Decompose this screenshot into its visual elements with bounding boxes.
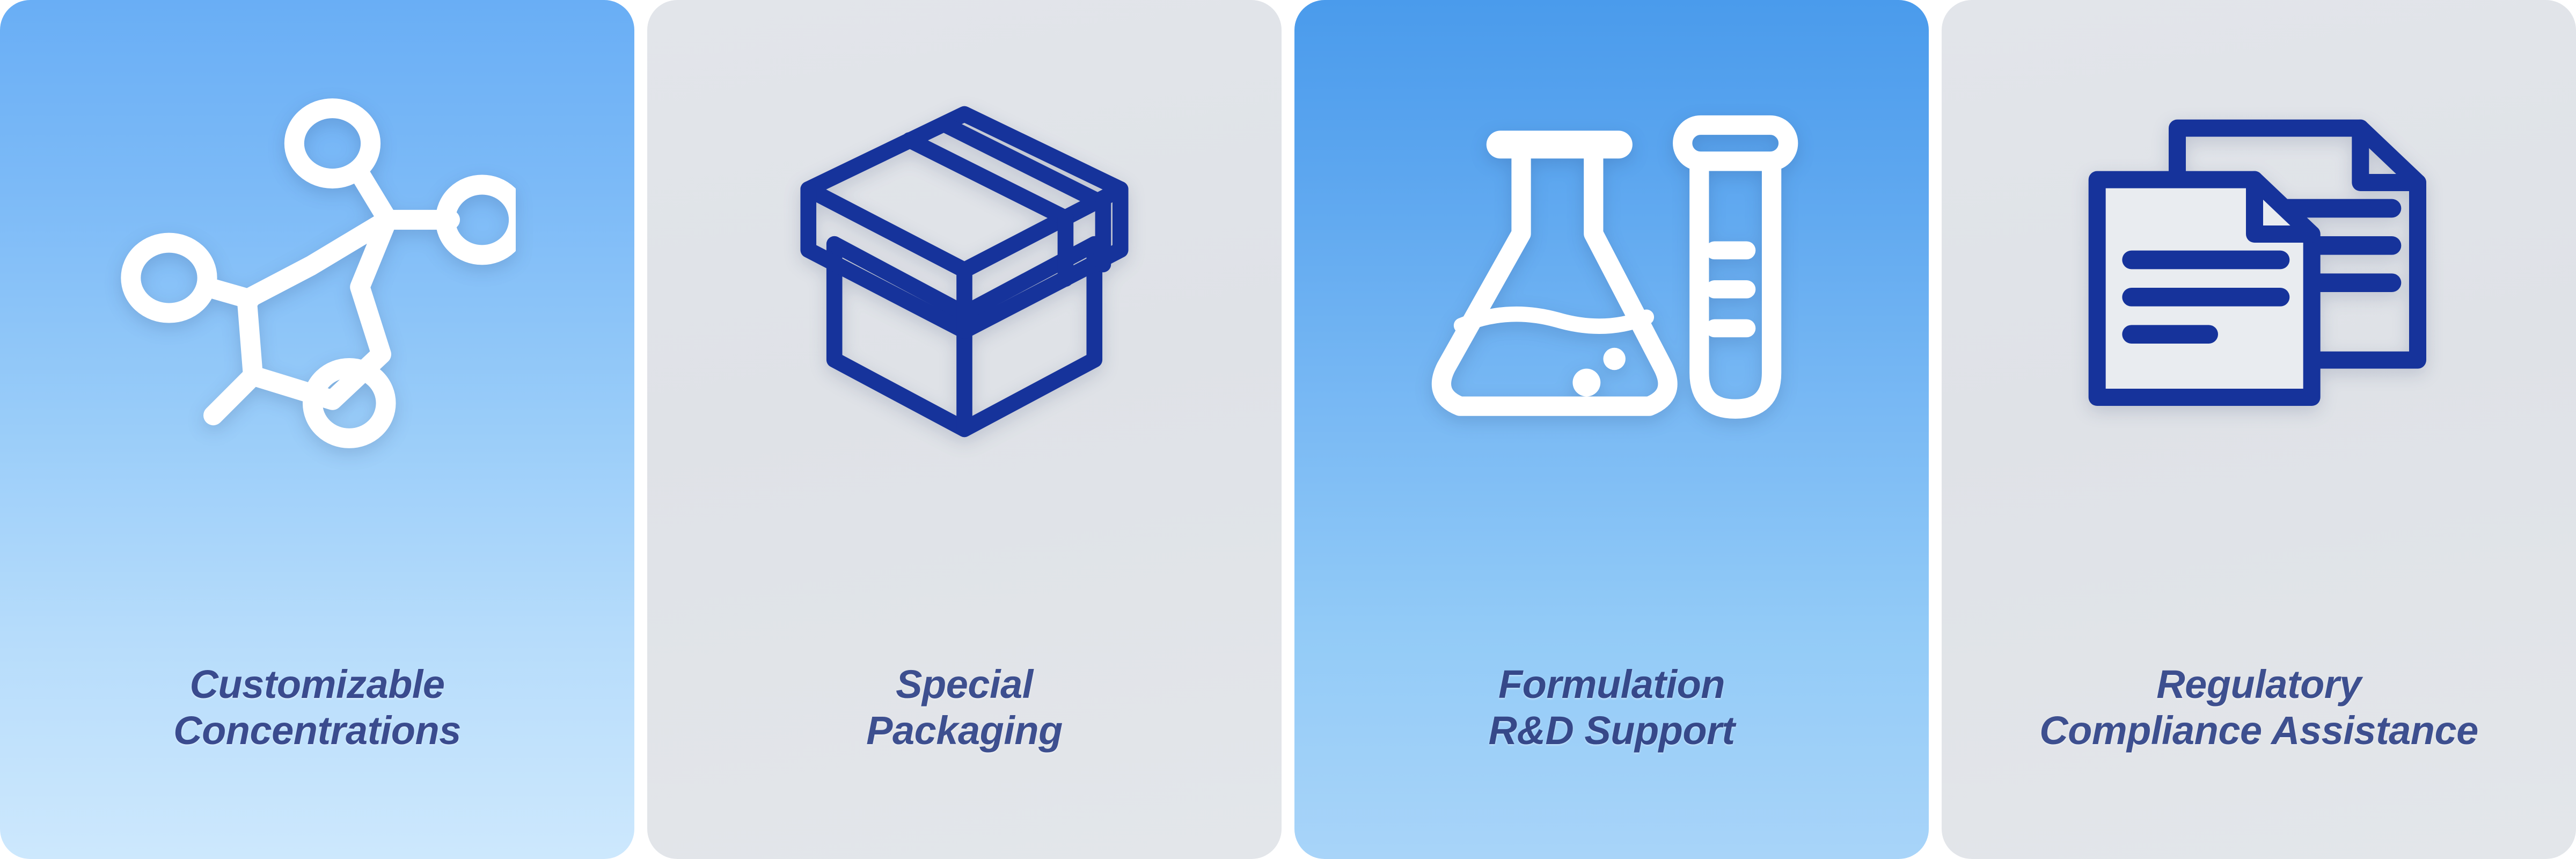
feature-cards-row: Customizable Concentrations Special Pack… <box>0 0 2576 859</box>
feature-card-label: Customizable Concentrations <box>0 661 634 754</box>
feature-card-regulatory-compliance-assistance[interactable]: Regulatory Compliance Assistance <box>1942 0 2576 859</box>
feature-card-label: Formulation R&D Support <box>1294 661 1929 754</box>
feature-card-special-packaging[interactable]: Special Packaging <box>647 0 1282 859</box>
feature-card-formulation-rd-support[interactable]: Formulation R&D Support <box>1294 0 1929 859</box>
flask-test-tube-icon <box>1408 81 1816 456</box>
documents-icon <box>2055 81 2463 456</box>
feature-card-customizable-concentrations[interactable]: Customizable Concentrations <box>0 0 634 859</box>
feature-card-label: Regulatory Compliance Assistance <box>1942 661 2576 754</box>
molecule-icon <box>113 81 521 456</box>
package-box-icon <box>760 81 1168 456</box>
feature-card-label: Special Packaging <box>647 661 1282 754</box>
